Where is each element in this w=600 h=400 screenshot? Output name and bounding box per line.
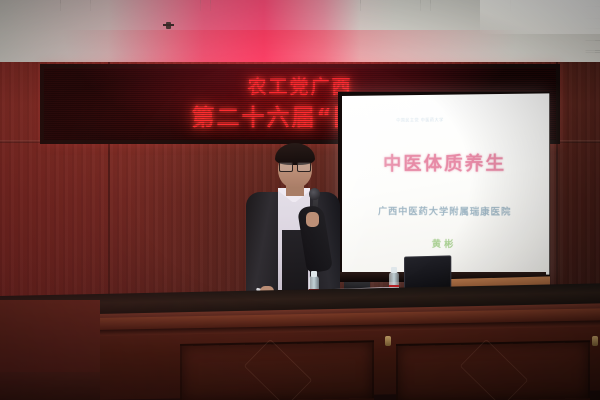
projection-screen-frame: 中国民主党 中医药大学 中医体质养生 广西中医药大学附属瑞康医院 黄彬 bbox=[338, 92, 550, 282]
speaker-hand-right bbox=[306, 212, 319, 227]
podium-hardware bbox=[592, 336, 598, 346]
microphone-icon bbox=[309, 188, 320, 200]
speaker-figure bbox=[238, 138, 348, 313]
glasses-icon bbox=[279, 162, 311, 170]
lecture-hall-photo: 农工党广西 第二十六届“国际科 中国民主党 中医药大学 中医体质养生 广西中医药… bbox=[0, 0, 600, 400]
slide-logo: 中国民主党 中医药大学 bbox=[396, 117, 444, 124]
podium-hardware bbox=[385, 336, 391, 346]
slide-subtitle: 广西中医药大学附属瑞康医院 bbox=[342, 204, 549, 218]
podium-panel bbox=[396, 340, 590, 400]
sprinkler-head-icon bbox=[166, 22, 171, 29]
podium-panel bbox=[180, 340, 374, 400]
side-wall-base bbox=[0, 372, 100, 400]
ceiling-light-panel bbox=[480, 0, 600, 34]
projection-screen: 中国民主党 中医药大学 中医体质养生 广西中医药大学附属瑞康医院 黄彬 bbox=[342, 93, 549, 274]
slide-presenter-name: 黄彬 bbox=[342, 236, 549, 251]
podium-diamond-inlay bbox=[460, 339, 528, 400]
slide-title: 中医体质养生 bbox=[342, 149, 549, 176]
podium-diamond-inlay bbox=[244, 339, 312, 400]
